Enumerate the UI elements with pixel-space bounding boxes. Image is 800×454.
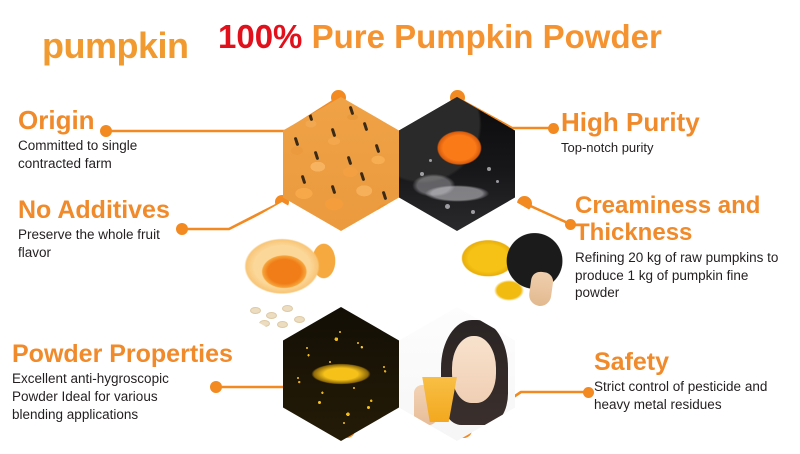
feature-high-purity: High Purity Top-notch purity [561, 108, 741, 156]
feature-origin-description: Committed to single contracted farm [18, 137, 178, 173]
feature-high-purity-title: High Purity [561, 108, 741, 137]
feature-safety: Safety Strict control of pesticide and h… [594, 348, 799, 414]
feature-no-additives: No Additives Preserve the whole fruit fl… [18, 196, 170, 262]
feature-no-additives-title: No Additives [18, 196, 170, 224]
feature-origin-title: Origin [18, 106, 178, 135]
infographic-canvas: pumpkin 100% Pure Pumpkin Powder [0, 0, 800, 454]
feature-powder-properties: Powder Properties Excellent anti-hygrosc… [12, 340, 233, 423]
feature-safety-title: Safety [594, 348, 799, 376]
feature-no-additives-description: Preserve the whole fruit flavor [18, 226, 168, 262]
feature-high-purity-description: Top-notch purity [561, 139, 741, 156]
face-decoration [452, 336, 496, 403]
feature-powder-properties-title: Powder Properties [12, 340, 233, 368]
no-additives-connector-dot-left [176, 223, 188, 235]
feature-origin: Origin Committed to single contracted fa… [18, 106, 178, 173]
feature-creaminess-title: Creaminess and Thickness [575, 193, 790, 247]
feature-safety-description: Strict control of pesticide and heavy me… [594, 378, 794, 414]
safety-connector-dot-right [583, 387, 594, 398]
feature-powder-properties-description: Excellent anti-hygroscopic Powder Ideal … [12, 370, 212, 423]
feature-creaminess: Creaminess and Thickness Refining 20 kg … [575, 193, 790, 302]
feature-creaminess-description: Refining 20 kg of raw pumpkins to produc… [575, 249, 787, 302]
high-purity-connector-dot-right [548, 123, 559, 134]
